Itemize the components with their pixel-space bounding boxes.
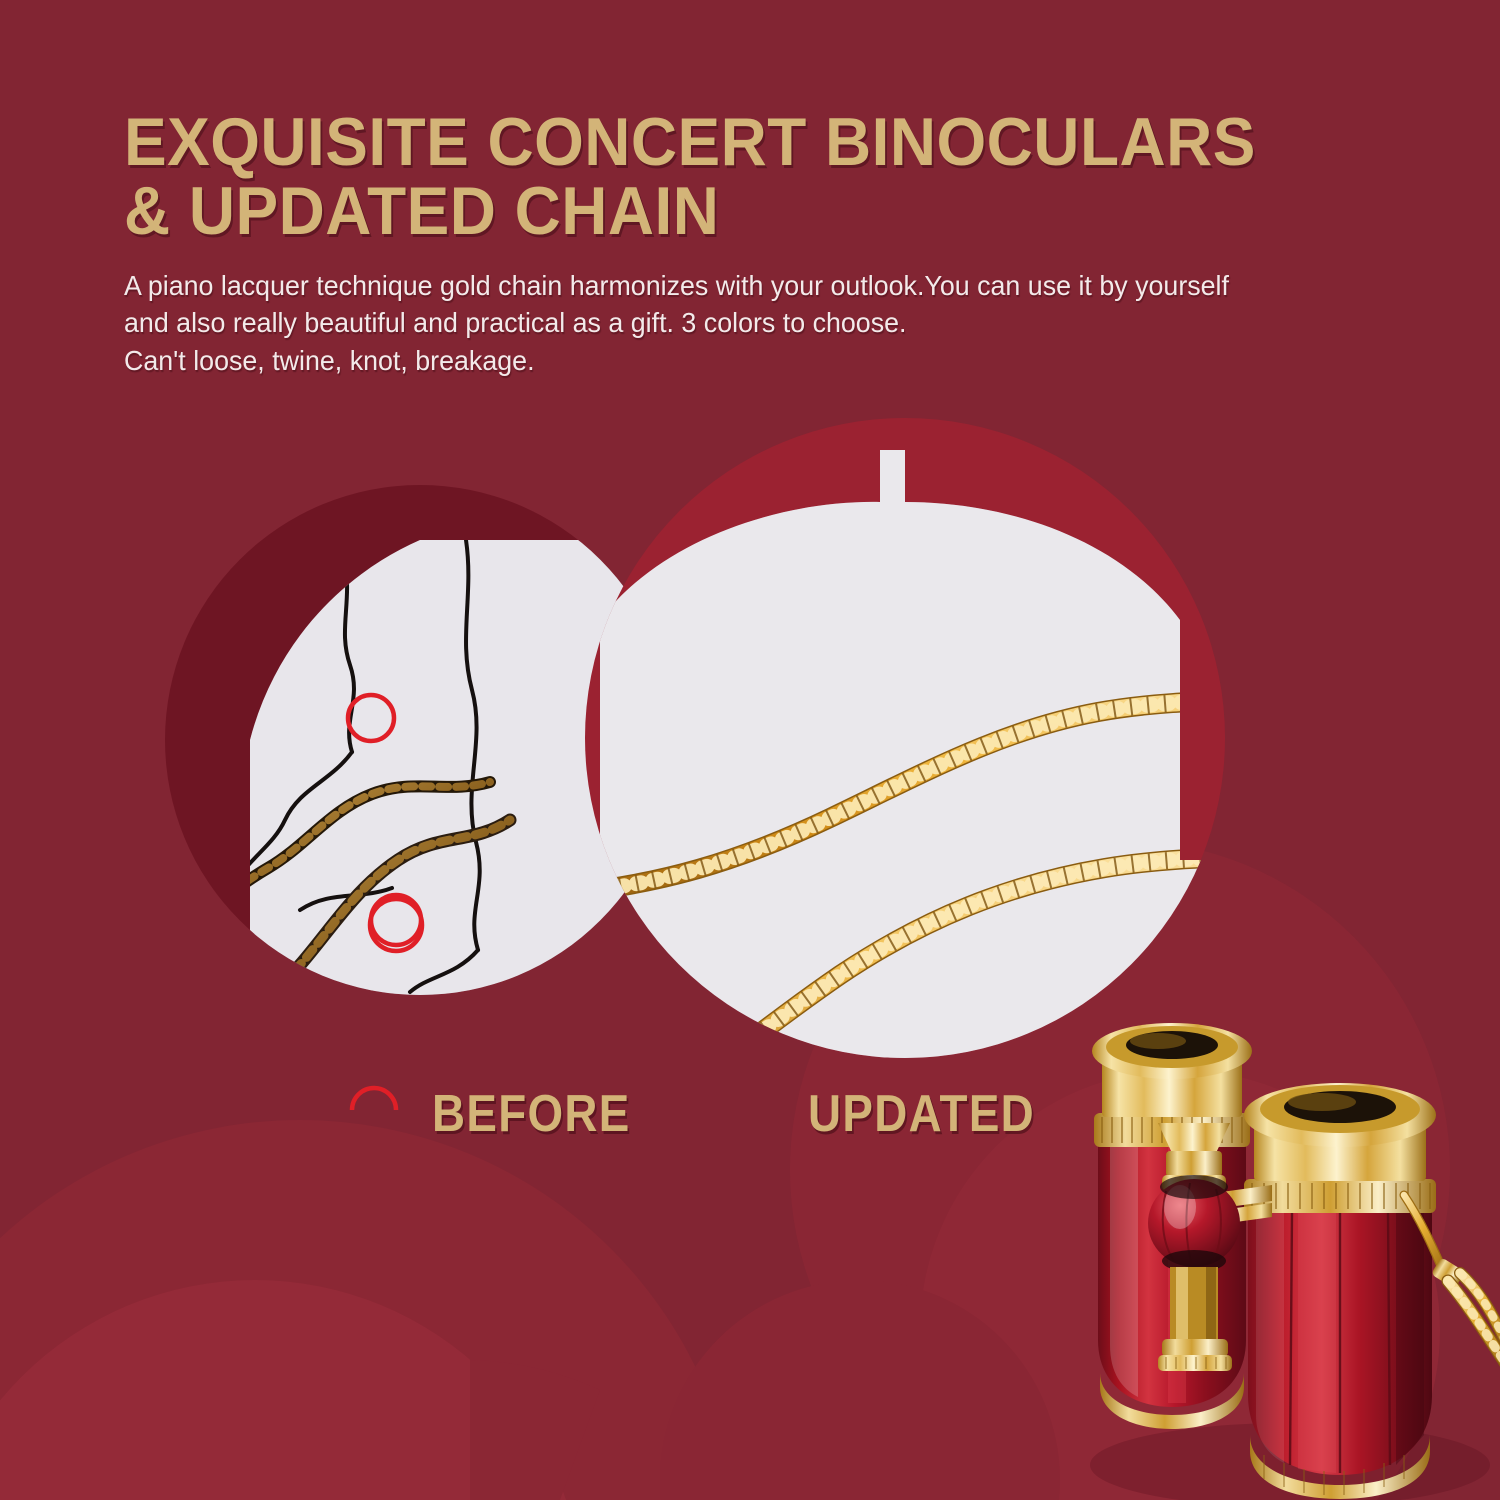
binocular-right-barrel xyxy=(1244,1083,1436,1499)
before-label: BEFORE xyxy=(432,1084,631,1144)
product-marketing-image: EXQUISITE CONCERT BINOCULARS & UPDATED C… xyxy=(0,0,1500,1500)
header-block: EXQUISITE CONCERT BINOCULARS & UPDATED C… xyxy=(124,108,1434,380)
page-title: EXQUISITE CONCERT BINOCULARS & UPDATED C… xyxy=(124,108,1355,247)
page-subtitle: A piano lacquer technique gold chain har… xyxy=(124,247,1382,380)
product-binoculars xyxy=(1040,995,1500,1500)
updated-label: UPDATED xyxy=(808,1084,1035,1144)
binoculars-svg xyxy=(1040,995,1500,1500)
annotation-broken-end-marker xyxy=(352,1088,396,1110)
